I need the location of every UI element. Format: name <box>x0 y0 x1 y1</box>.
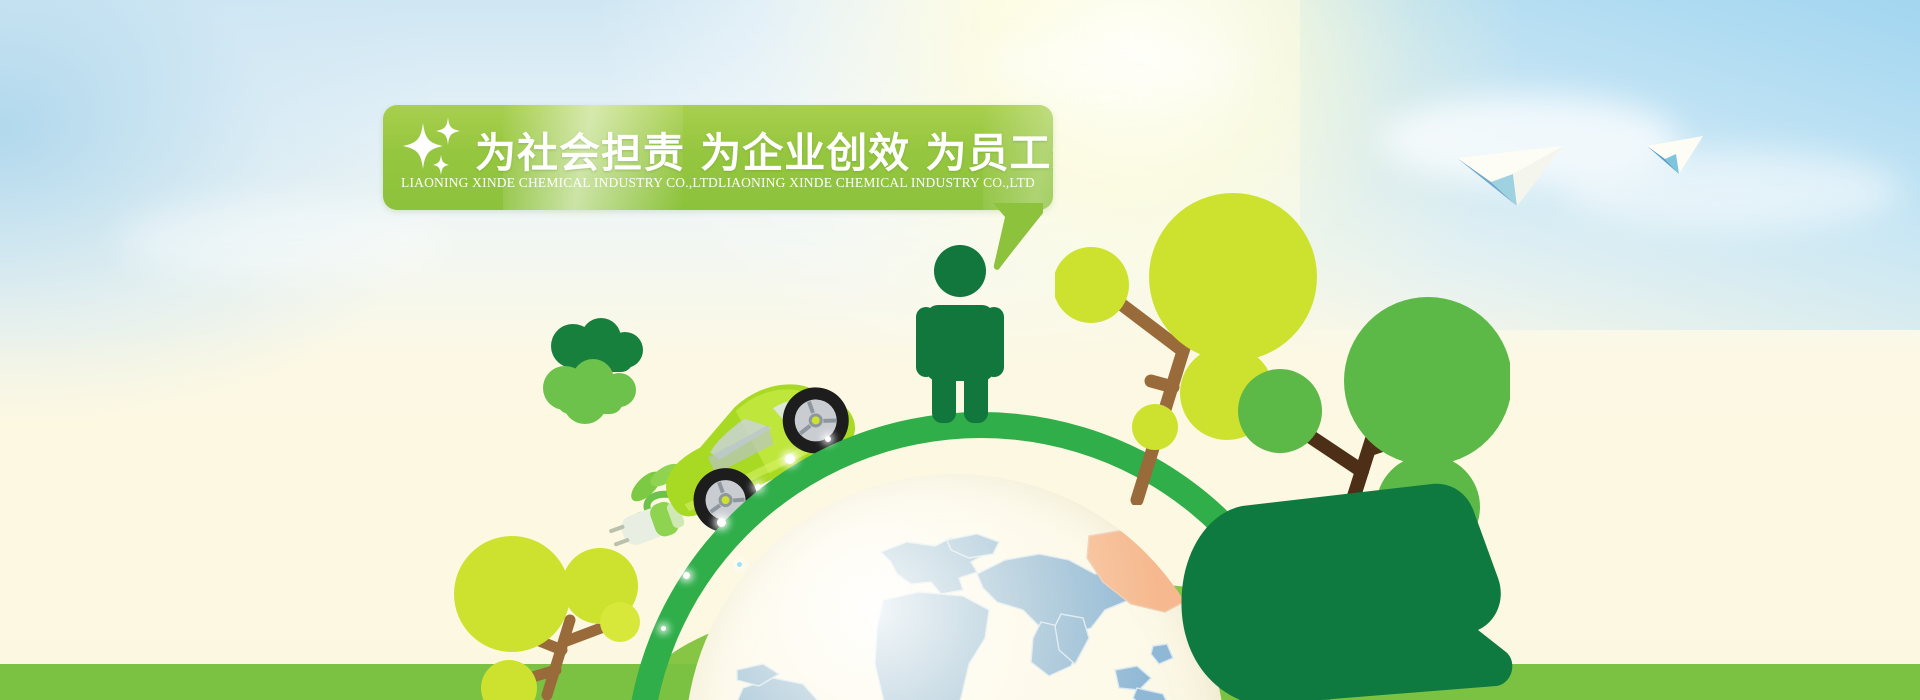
headline-banner: 为社会担责 为企业创效 为员工造福 LIAONING XINDE CHEMICA… <box>383 105 1053 210</box>
banner-stage: 为社会担责 为企业创效 为员工造福 LIAONING XINDE CHEMICA… <box>0 0 1920 700</box>
banner-subline: LIAONING XINDE CHEMICAL INDUSTRY CO.,LTD… <box>389 175 1047 191</box>
banner-headline: 为社会担责 为企业创效 为员工造福 <box>475 119 1035 179</box>
sparkle-dot <box>717 518 726 527</box>
banner-tail-icon <box>985 203 1065 273</box>
sparkle-dot <box>661 626 666 631</box>
cloud-2 <box>1560 150 1900 230</box>
sparkle-icon <box>403 117 473 179</box>
paper-plane-icon <box>1455 130 1585 210</box>
sparkle-dot <box>825 436 831 442</box>
cloud-4 <box>120 200 440 280</box>
sparkle-dot <box>755 484 761 490</box>
leaf-arrow-icon <box>1180 480 1530 700</box>
paper-plane-icon <box>1645 130 1715 178</box>
sparkle-dot <box>737 562 742 567</box>
sparkle-dot <box>683 572 690 579</box>
cloud-3 <box>980 30 1240 100</box>
sparkle-dot <box>785 454 795 464</box>
